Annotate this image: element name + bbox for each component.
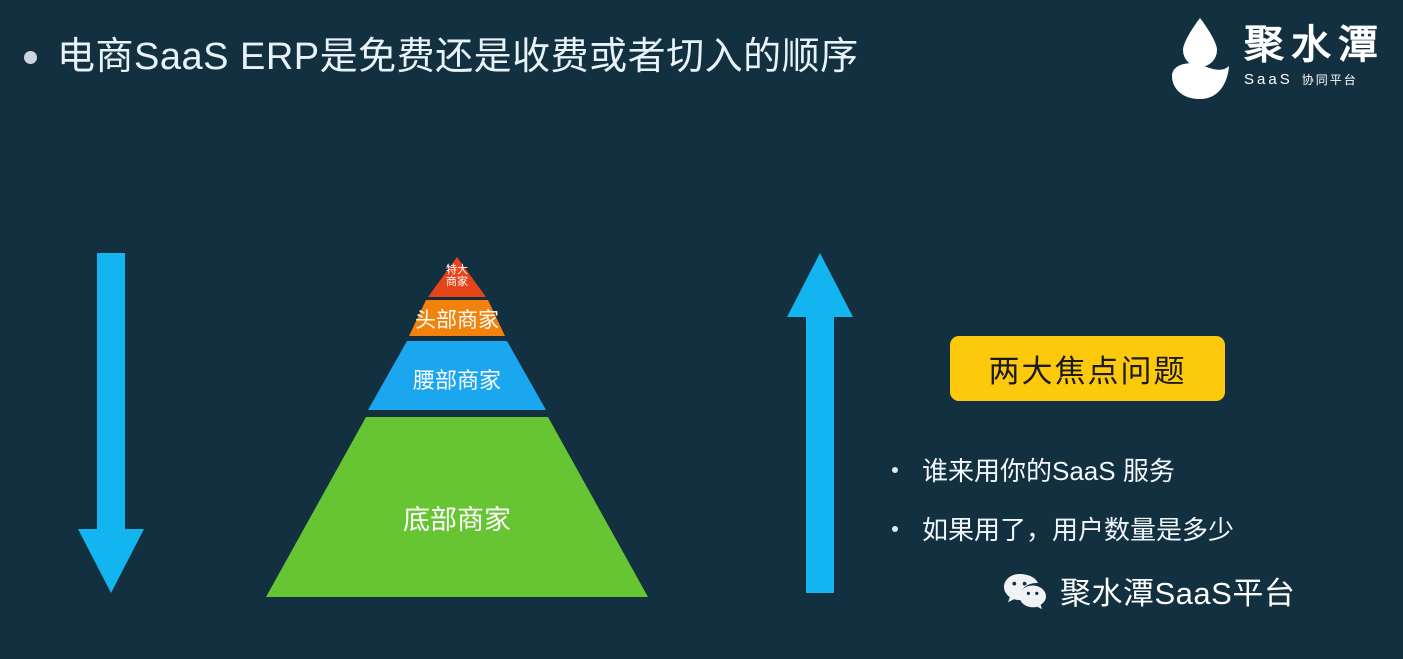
- list-item: 如果用了，用户数量是多少: [892, 510, 1234, 547]
- arrow-up-icon: [787, 253, 853, 593]
- bullet-dot-icon: [892, 467, 898, 473]
- wechat-account-name: 聚水潭SaaS平台: [1060, 568, 1295, 613]
- pyramid-svg: [145, 250, 775, 605]
- wechat-icon: [1003, 572, 1047, 610]
- title-bullet-icon: [24, 51, 37, 64]
- brand-text-block: 聚水潭 SaaS 协同平台: [1244, 25, 1385, 91]
- focus-badge-label: 两大焦点问题: [989, 346, 1187, 391]
- list-item: 谁来用你的SaaS 服务: [892, 451, 1234, 488]
- brand-logo: 聚水潭 SaaS 协同平台: [1168, 16, 1385, 100]
- focus-question-list: 谁来用你的SaaS 服务 如果用了，用户数量是多少: [892, 451, 1234, 547]
- pyramid-tier-4: [266, 417, 648, 597]
- arrow-down-icon: [78, 253, 144, 593]
- pyramid-tier-3: [368, 341, 546, 410]
- pyramid-tier-2: [409, 300, 505, 336]
- slide-canvas: 电商SaaS ERP是免费还是收费或者切入的顺序 聚水潭 SaaS 协同平台: [0, 0, 1403, 659]
- focus-item-1: 谁来用你的SaaS 服务: [922, 451, 1175, 488]
- pyramid-tier-1: [428, 257, 486, 297]
- brand-subtitle: SaaS 协同平台: [1244, 72, 1358, 87]
- bullet-dot-icon: [892, 526, 898, 532]
- merchant-pyramid-chart: 特大 商家 头部商家 腰部商家 底部商家: [145, 250, 775, 610]
- focus-badge: 两大焦点问题: [950, 336, 1225, 401]
- focus-item-2: 如果用了，用户数量是多少: [922, 510, 1234, 547]
- brand-sub-en: SaaS: [1244, 72, 1293, 87]
- wechat-account: 聚水潭SaaS平台: [1003, 568, 1295, 613]
- page-title: 电商SaaS ERP是免费还是收费或者切入的顺序: [57, 36, 859, 80]
- brand-sub-cn: 协同平台: [1302, 74, 1358, 86]
- brand-name: 聚水潭: [1244, 25, 1385, 65]
- water-drop-icon: [1168, 16, 1232, 100]
- slide-title: 电商SaaS ERP是免费还是收费或者切入的顺序: [24, 36, 859, 80]
